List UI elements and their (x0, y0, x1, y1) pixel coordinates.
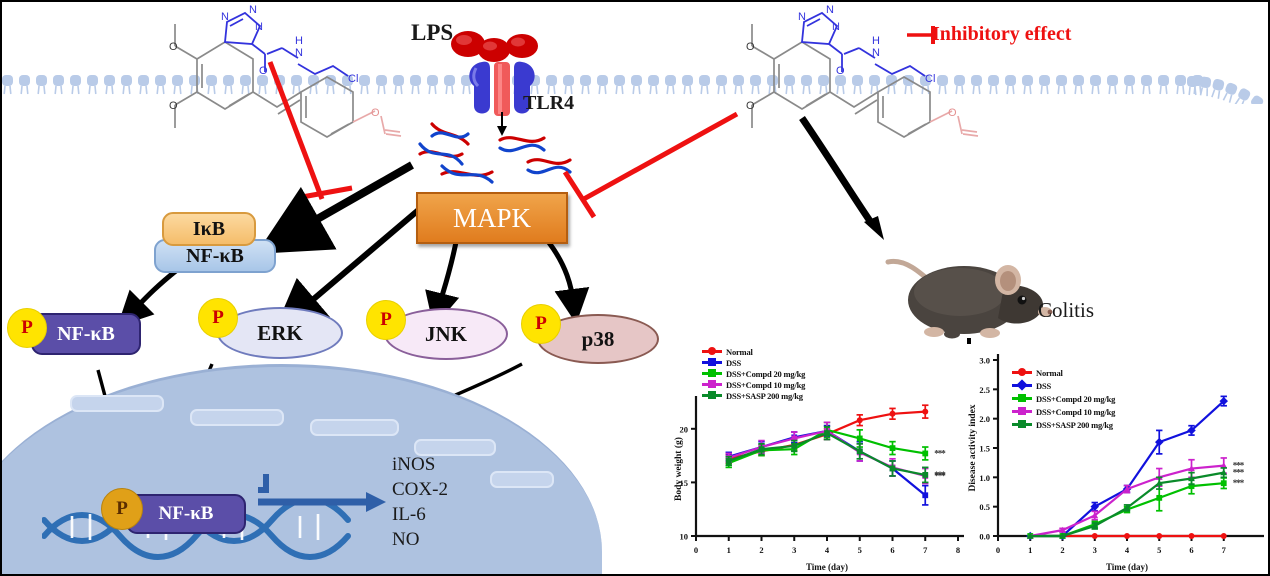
legend-body-weight: Normal DSS DSS+Compd 20 mg/kg DSS+Compd … (702, 346, 805, 401)
lps-molecules (451, 31, 538, 62)
svg-text:3: 3 (1093, 545, 1097, 555)
svg-text:H: H (295, 35, 303, 47)
svg-text:1.5: 1.5 (979, 444, 990, 454)
colitis-label: Colitis (1038, 298, 1094, 323)
inhibitory-tbar-left (302, 188, 352, 197)
svg-text:O: O (371, 107, 380, 119)
svg-text:N: N (826, 4, 834, 16)
svg-text:20: 20 (680, 424, 689, 434)
svg-text:4: 4 (825, 545, 830, 555)
svg-text:N: N (255, 21, 263, 33)
phospho-icon-p38: P (521, 304, 561, 344)
legend-swatch (1012, 410, 1032, 413)
gene-product-no: NO (392, 527, 448, 552)
gene-product-cox2: COX-2 (392, 477, 448, 502)
tlr4-label: TLR4 (523, 92, 574, 115)
chart-canvas-dai: 0.00.51.01.52.02.53.001234567Time (day)D… (964, 344, 1270, 572)
svg-text:6: 6 (1189, 545, 1193, 555)
svg-text:***: *** (1233, 468, 1245, 478)
legend-label: DSS+SASP 200 mg/kg (726, 391, 803, 401)
svg-text:N: N (798, 11, 806, 23)
legend-label: DSS+Compd 10 mg/kg (726, 380, 805, 390)
nuclear-pore (310, 419, 399, 436)
svg-text:7: 7 (923, 545, 928, 555)
svg-text:N: N (295, 47, 303, 59)
svg-text:N: N (832, 21, 840, 33)
legend-swatch (1012, 384, 1032, 387)
legend-swatch (702, 394, 722, 397)
svg-text:5: 5 (858, 545, 862, 555)
svg-text:O: O (746, 100, 755, 112)
phospho-icon-jnk: P (366, 300, 406, 340)
svg-text:Disease activity index: Disease activity index (968, 404, 978, 491)
legend-label: Normal (726, 347, 753, 357)
svg-text:7: 7 (1222, 545, 1227, 555)
ikb-protein: IκB (162, 212, 256, 246)
svg-text:3: 3 (792, 545, 796, 555)
legend-label: DSS (1036, 381, 1051, 391)
svg-text:Cl: Cl (925, 73, 935, 85)
chart-body-weight: Normal DSS DSS+Compd 20 mg/kg DSS+Compd … (670, 344, 970, 572)
legend-label: DSS+Compd 10 mg/kg (1036, 407, 1115, 417)
svg-text:H: H (872, 35, 880, 47)
svg-text:0.0: 0.0 (979, 532, 990, 542)
legend-swatch (702, 350, 722, 353)
svg-text:Time (day): Time (day) (1106, 562, 1148, 572)
figure-root: O O N N N O H N Cl O (0, 0, 1270, 576)
svg-text:Body weight (g): Body weight (g) (673, 437, 684, 501)
nuclear-pore (190, 409, 284, 426)
svg-text:2: 2 (1060, 545, 1064, 555)
svg-text:2.0: 2.0 (979, 414, 990, 424)
svg-text:3.0: 3.0 (979, 356, 990, 366)
svg-text:Time (day): Time (day) (806, 562, 848, 572)
svg-text:N: N (872, 47, 880, 59)
phospho-icon-nfkb: P (7, 308, 47, 348)
svg-text:2.5: 2.5 (979, 385, 990, 395)
legend-swatch (1012, 423, 1032, 426)
gene-product-il6: IL-6 (392, 502, 448, 527)
gene-product-inos: iNOS (392, 452, 448, 477)
svg-text:***: *** (934, 470, 946, 480)
legend-swatch (1012, 371, 1032, 374)
svg-text:4: 4 (1125, 545, 1130, 555)
svg-text:Cl: Cl (348, 73, 358, 85)
inhibitory-effect-label: Inhibitory effect (932, 23, 1071, 46)
transcription-arrow (252, 472, 392, 537)
legend-swatch (702, 372, 722, 375)
svg-text:O: O (169, 41, 178, 53)
legend-label: DSS+SASP 200 mg/kg (1036, 420, 1113, 430)
gene-products-list: iNOS COX-2 IL-6 NO (392, 452, 448, 552)
svg-text:O: O (948, 107, 957, 119)
legend-label: DSS+Compd 20 mg/kg (1036, 394, 1115, 404)
molecule-structure-left: O O N N N O H N Cl O (145, 4, 410, 144)
svg-text:1: 1 (1028, 545, 1032, 555)
nuclear-pore (490, 471, 554, 488)
legend-swatch (1012, 397, 1032, 400)
svg-text:0.5: 0.5 (979, 502, 990, 512)
svg-text:8: 8 (956, 545, 960, 555)
svg-text:6: 6 (890, 545, 894, 555)
svg-text:N: N (221, 11, 229, 23)
mapk-box: MAPK (416, 192, 568, 244)
legend-label: DSS (726, 358, 741, 368)
svg-text:1.0: 1.0 (979, 473, 990, 483)
lps-label: LPS (411, 20, 453, 46)
inhibitory-line-right (582, 114, 737, 200)
signaling-nucleic-acids (402, 114, 602, 199)
legend-label: DSS+Compd 20 mg/kg (726, 369, 805, 379)
svg-text:O: O (746, 41, 755, 53)
svg-text:N: N (249, 4, 257, 16)
phospho-icon-erk: P (198, 298, 238, 338)
legend-dai: Normal DSS DSS+Compd 20 mg/kg DSS+Compd … (1012, 366, 1115, 431)
legend-label: Normal (1036, 368, 1063, 378)
svg-text:0: 0 (694, 545, 698, 555)
kinase-nfkb: NF-κB (31, 313, 141, 355)
svg-text:2: 2 (759, 545, 763, 555)
chart-disease-activity-index: Normal DSS DSS+Compd 20 mg/kg DSS+Compd … (964, 344, 1270, 572)
svg-text:0: 0 (996, 545, 1000, 555)
svg-text:O: O (169, 100, 178, 112)
svg-text:10: 10 (680, 532, 689, 542)
svg-text:***: *** (934, 448, 946, 458)
svg-text:O: O (259, 65, 268, 77)
legend-swatch (702, 383, 722, 386)
svg-text:O: O (836, 65, 845, 77)
legend-swatch (702, 361, 722, 364)
nuclear-pore (70, 395, 164, 412)
nuclear-nfkb: NF-κB (126, 494, 246, 534)
svg-text:5: 5 (1157, 545, 1161, 555)
phospho-icon-nuclear-nfkb: P (101, 488, 143, 530)
svg-text:***: *** (1233, 478, 1245, 488)
svg-text:1: 1 (727, 545, 731, 555)
